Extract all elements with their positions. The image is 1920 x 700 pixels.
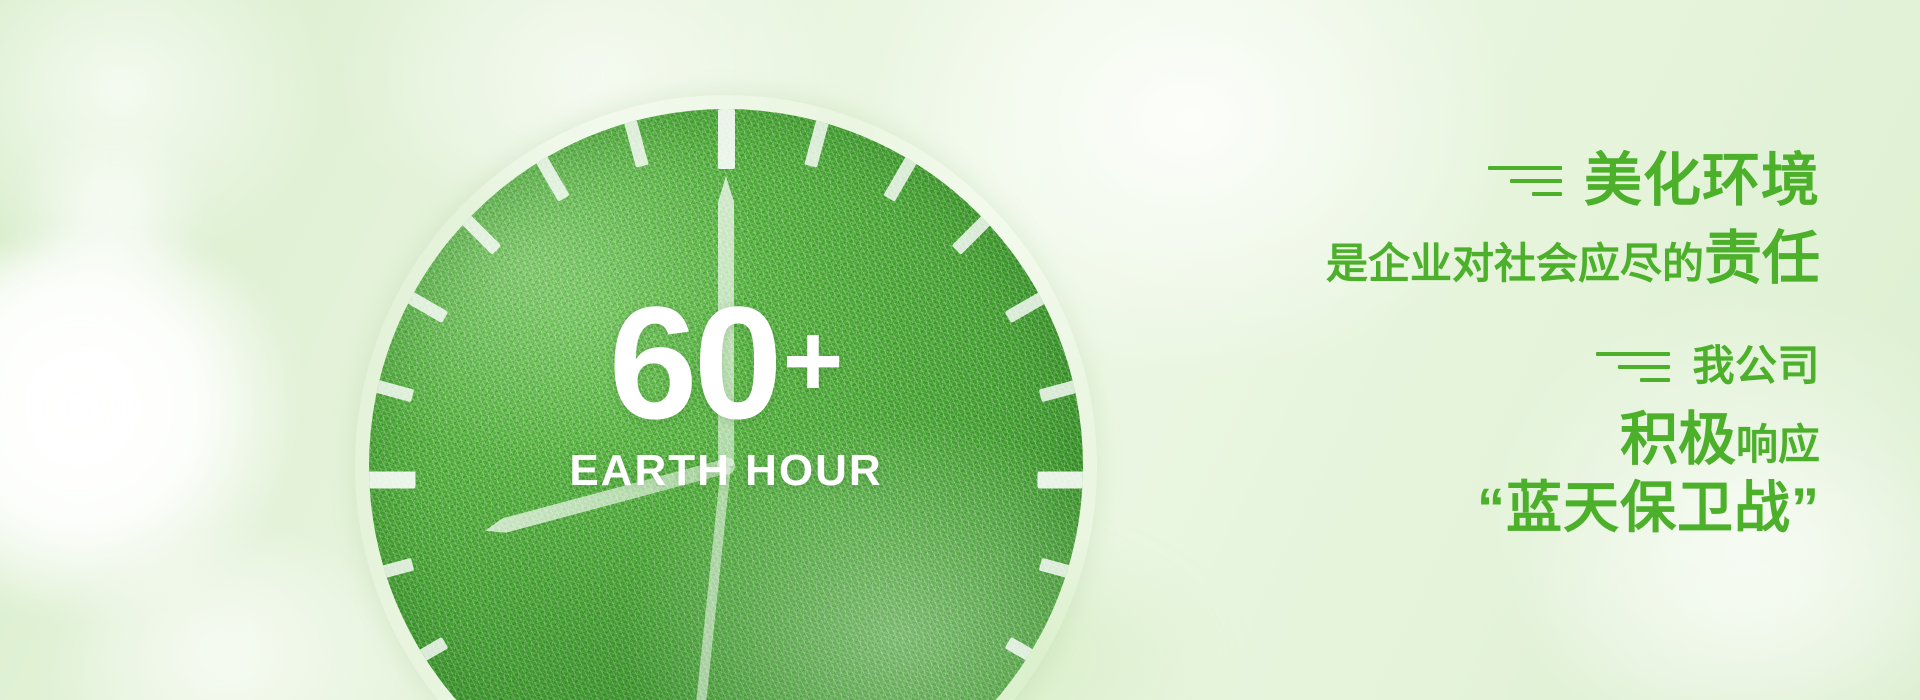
marketing-copy: 美化环境 是企业对社会应尽的责任 我公司 积极响应 “蓝天保卫战” [1100, 150, 1820, 540]
clock-tick [1037, 472, 1083, 489]
headline-beautify-environment: 美化环境 [1584, 150, 1820, 211]
clock-tick [459, 213, 501, 255]
clock-tick [1004, 289, 1050, 323]
clock-tick [369, 378, 414, 402]
clock-tick [401, 637, 447, 671]
subhead-active-response-suffix: 响应 [1736, 411, 1820, 472]
clock-face-grass-texture: 60+ EARTH HOUR [369, 109, 1083, 700]
clock-tick [1038, 558, 1083, 582]
clock-tick [535, 155, 569, 201]
subhead-corporate-duty-prefix: 是企业对社会应尽的 [1326, 230, 1704, 291]
clock-tick [624, 120, 648, 168]
bokeh-glow-upper-left [10, 120, 210, 310]
copy-block-secondary: 我公司 积极响应 “蓝天保卫战” [1100, 341, 1820, 540]
copy-line-3: 我公司 [1100, 341, 1820, 391]
dash-lines-icon [1596, 352, 1670, 382]
clock-tick [951, 213, 993, 255]
bokeh-glow-left [0, 235, 310, 615]
dash-lines-icon [1488, 166, 1562, 196]
earth-hour-plus-symbol: + [783, 303, 844, 419]
copy-line-4: 积极响应 [1100, 392, 1820, 476]
clock-tick [369, 472, 415, 489]
grass-clock-graphic: 60+ EARTH HOUR [355, 95, 1097, 700]
earth-hour-60-text: 60+ [569, 289, 882, 436]
clock-tick [1004, 637, 1050, 671]
earth-hour-logo: 60+ EARTH HOUR [569, 289, 882, 496]
earth-hour-banner: 60+ EARTH HOUR 美化环境 是企业对社会应尽的责任 我公司 积极响应 [0, 0, 1920, 700]
headline-our-company: 我公司 [1692, 341, 1820, 391]
earth-hour-subtitle: EARTH HOUR [569, 446, 882, 496]
headline-blue-sky-campaign: “蓝天保卫战” [1477, 476, 1820, 540]
subhead-active-response-emphasis: 积极 [1620, 392, 1736, 476]
copy-line-2: 是企业对社会应尽的责任 [1100, 211, 1820, 295]
clock-tick [369, 558, 414, 582]
copy-line-1: 美化环境 [1100, 150, 1820, 211]
copy-line-5: “蓝天保卫战” [1100, 476, 1820, 540]
clock-tick [401, 289, 447, 323]
clock-tick [804, 120, 828, 168]
clock-tick [883, 155, 917, 201]
subhead-corporate-duty-emphasis: 责任 [1704, 211, 1820, 295]
copy-block-primary: 美化环境 是企业对社会应尽的责任 [1100, 150, 1820, 295]
clock-tick [1038, 378, 1083, 402]
clock-tick [718, 109, 735, 169]
